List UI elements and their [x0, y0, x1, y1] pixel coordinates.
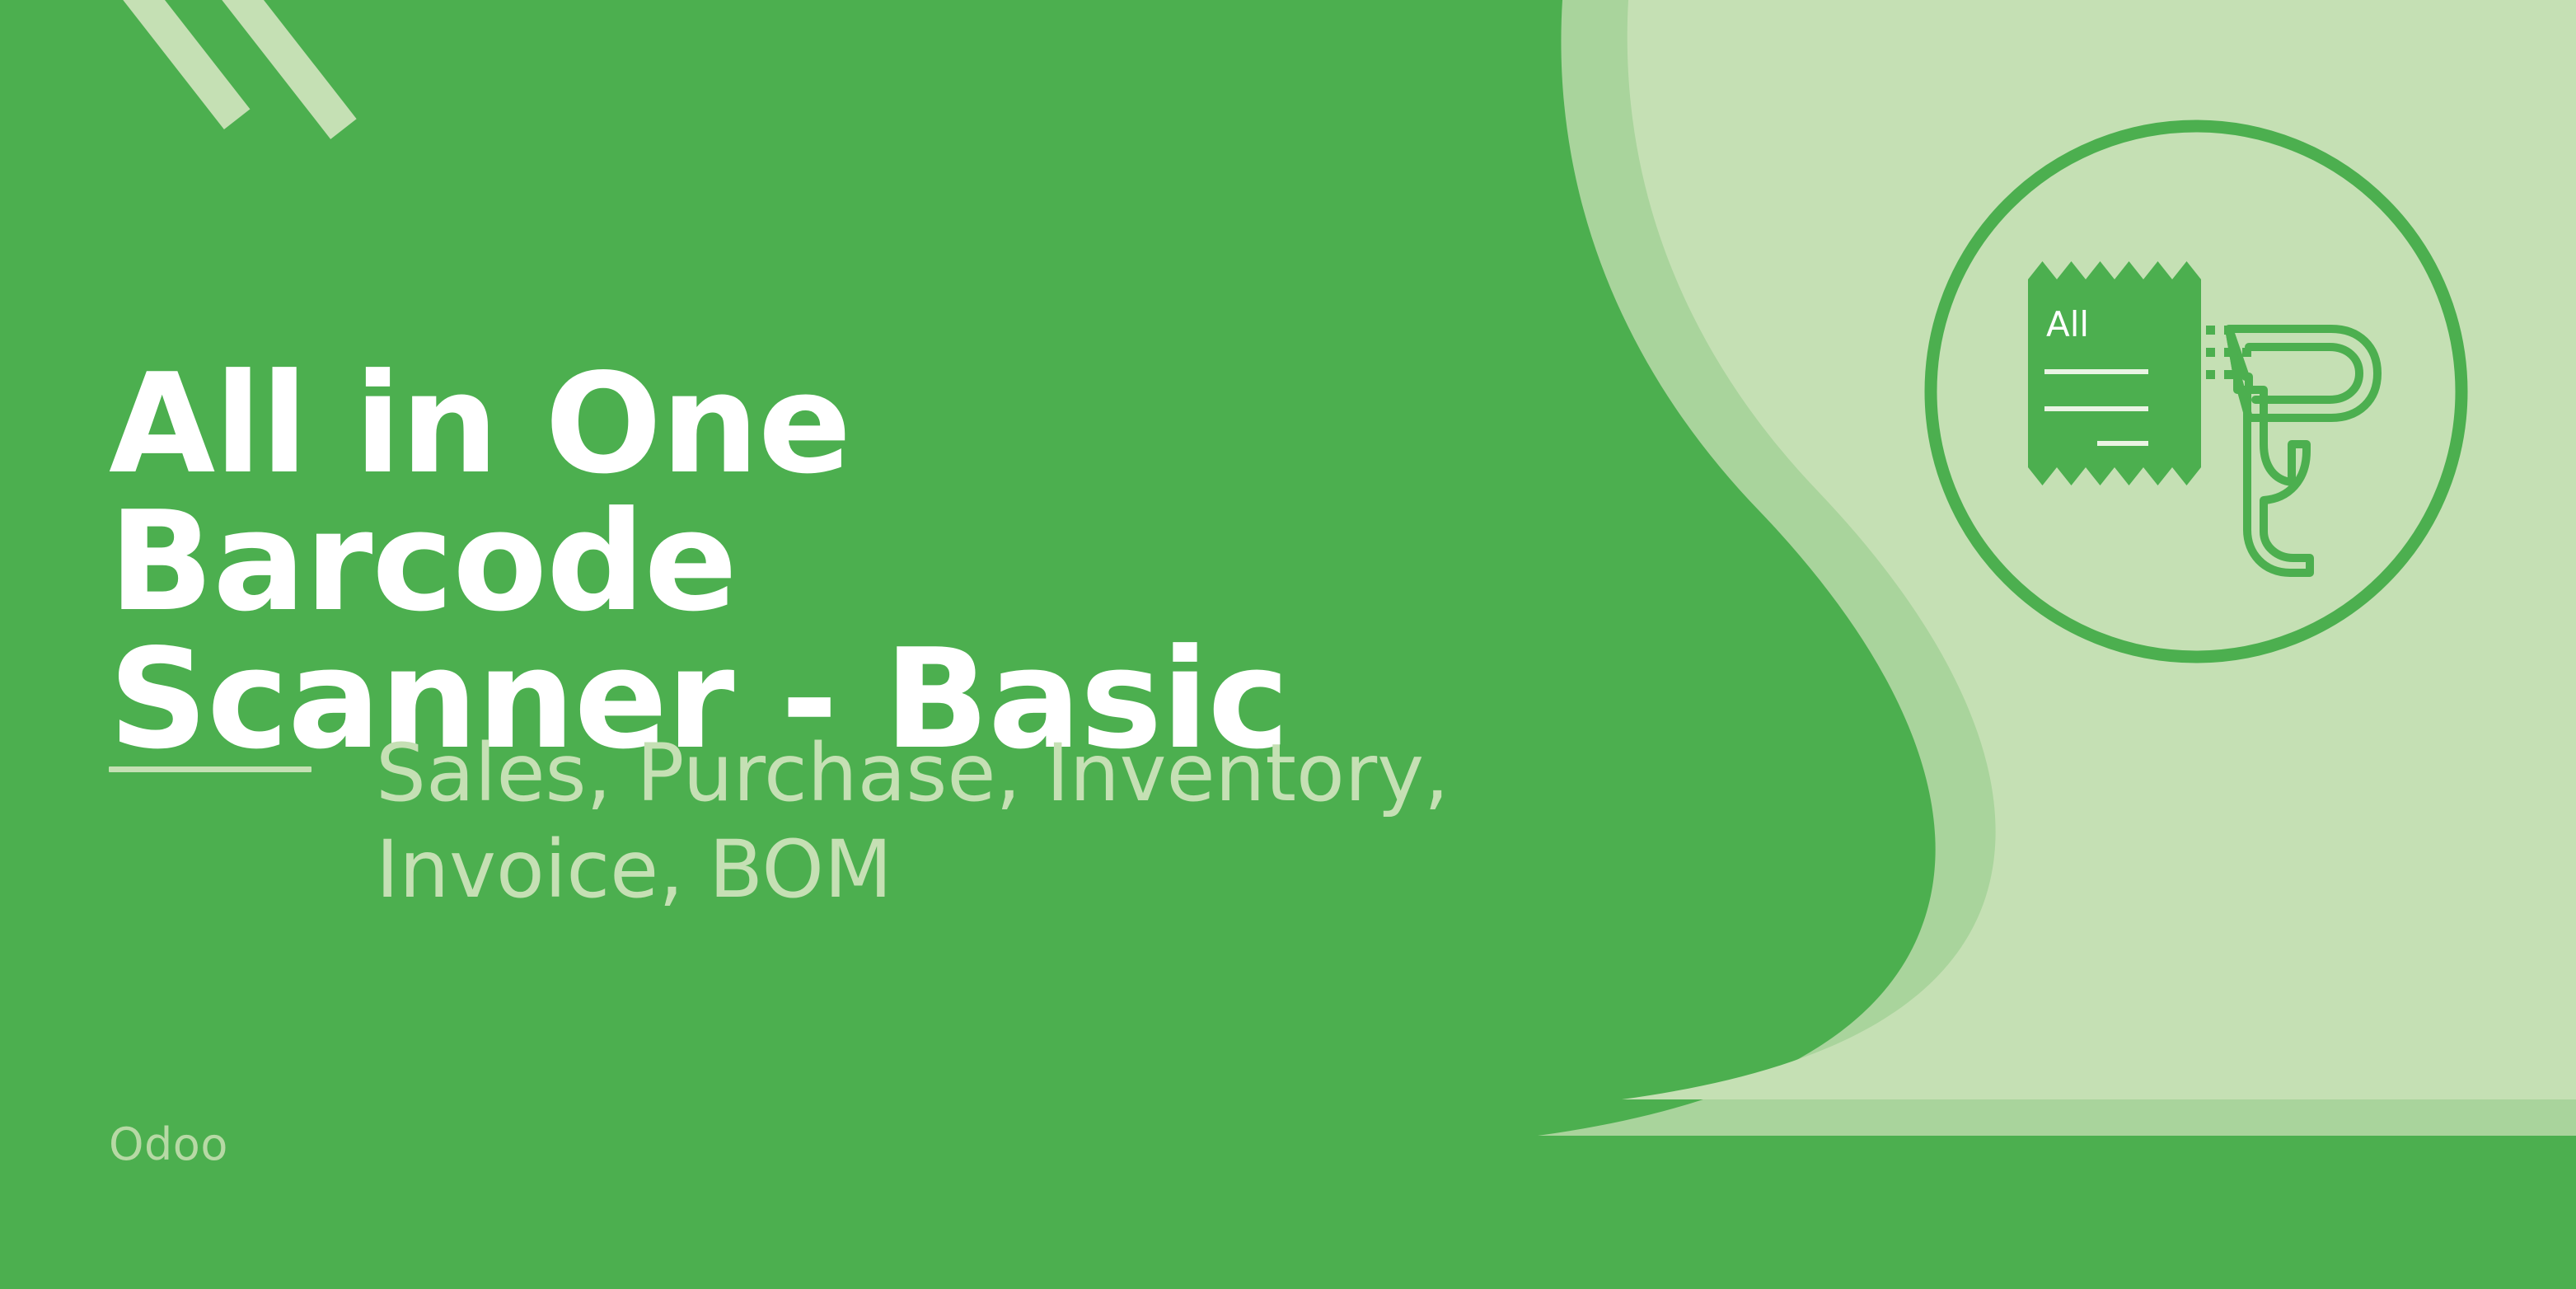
receipt-line-3 [2097, 441, 2148, 446]
receipt-line-2 [2044, 406, 2148, 411]
barcode-scanner-gun-icon [2229, 329, 2377, 573]
brand-label: Odoo [109, 1118, 228, 1170]
page-subtitle: Sales, Purchase, Inventory, Invoice, BOM [376, 725, 1674, 918]
promo-banner: All All in One [0, 0, 2576, 1289]
barcode-badge: All [1923, 118, 2470, 665]
receipt-line-1 [2044, 369, 2148, 374]
subtitle-row: Sales, Purchase, Inventory, Invoice, BOM [109, 725, 1674, 918]
receipt-label: All [2046, 304, 2089, 345]
text-column: All in One Barcode Scanner - Basic Sales… [109, 0, 1757, 1289]
subtitle-dash [109, 766, 311, 772]
scanner-gun-outline [2229, 329, 2310, 573]
page-title: All in One Barcode Scanner - Basic [109, 356, 1510, 769]
